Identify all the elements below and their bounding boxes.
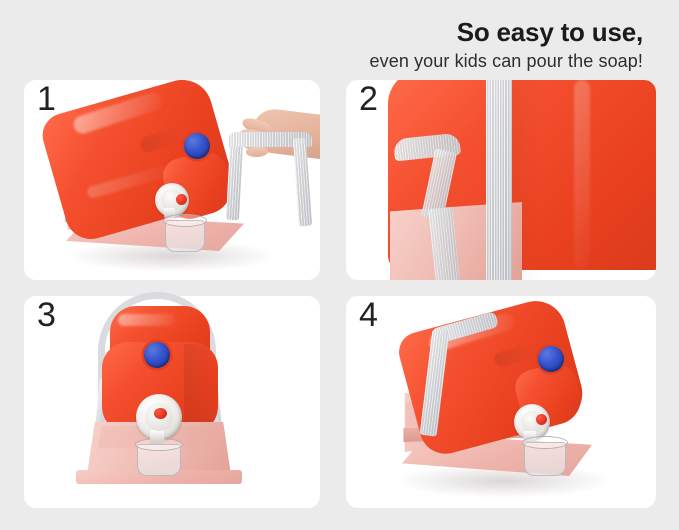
panel-number-1: 1 [37,82,56,116]
headline-secondary: even your kids can pour the soap! [370,51,643,73]
instruction-panel-3: 3 [24,296,320,508]
panel-number-4: 4 [359,298,378,332]
panel-number-2: 2 [359,82,378,116]
cup-rim [163,214,207,227]
panel-2-artwork [346,80,656,280]
headline-block: So easy to use, even your kids can pour … [370,18,643,72]
red-button [176,194,187,205]
instruction-panel-4: 4 [346,296,656,508]
instruction-panel-1: 1 [24,80,320,280]
blue-cap [538,346,564,372]
cup-rim [522,436,568,449]
finger-4 [246,147,268,158]
spout-nozzle [150,430,164,444]
panel-number-3: 3 [37,298,56,332]
blue-cap [184,133,210,159]
instruction-panel-2: 2 [346,80,656,280]
strap-left-leg [226,140,243,221]
panel-4-artwork [346,296,656,508]
instruction-panel-grid: 1 2 [24,80,656,508]
blue-cap [144,342,170,368]
panel-1-artwork [24,80,320,280]
panel-3-artwork [24,282,320,508]
red-button [154,408,167,419]
jug-highlight [118,314,176,326]
jug-shade [184,344,218,434]
headline-primary: So easy to use, [370,18,643,48]
jug-highlight-edge [574,80,590,270]
strap-vertical [486,80,512,280]
red-button [536,414,547,425]
